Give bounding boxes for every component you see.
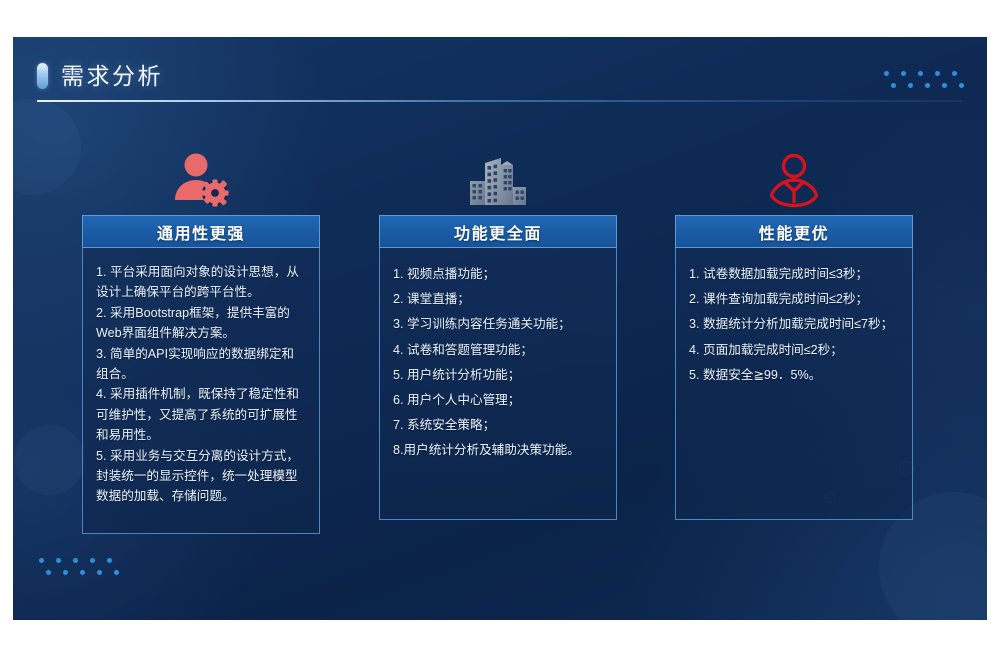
card-header-label: 通用性更强: [157, 220, 245, 244]
person-outline-icon: [675, 133, 913, 215]
card-header-performance: 性能更优: [675, 215, 913, 248]
dot-row: [884, 71, 964, 76]
dot: [925, 83, 930, 88]
dot-row: [891, 83, 964, 88]
column-features: 功能更全面 1. 视频点播功能； 2. 课堂直播； 3. 学习训练内容任务通关功…: [379, 133, 617, 520]
body-line: 5. 采用业务与交互分离的设计方式，封装统一的显示控件，统一处理模型数据的加载、…: [96, 446, 306, 507]
body-line: 7. 系统安全策略；: [393, 413, 603, 438]
body-line: 3. 学习训练内容任务通关功能；: [393, 312, 603, 337]
body-line: 4. 采用插件机制，既保持了稳定性和可维护性，又提高了系统的可扩展性和易用性。: [96, 384, 306, 445]
body-line: 5. 用户统计分析功能；: [393, 363, 603, 388]
dot: [942, 83, 947, 88]
body-line: 2. 课堂直播；: [393, 287, 603, 312]
buildings-icon: [379, 133, 617, 215]
slide-canvas: 需求分析: [13, 37, 987, 620]
columns-container: 通用性更强 1. 平台采用面向对象的设计思想，从设计上确保平台的跨平台性。 2.…: [13, 133, 987, 573]
body-line: 2. 课件查询加载完成时间≤2秒；: [689, 287, 899, 312]
dot: [952, 71, 957, 76]
body-line: 1. 视频点播功能；: [393, 262, 603, 287]
card-header-label: 性能更优: [759, 220, 829, 244]
body-line: 1. 平台采用面向对象的设计思想，从设计上确保平台的跨平台性。: [96, 262, 306, 303]
dot: [918, 71, 923, 76]
card-body-features: 1. 视频点播功能； 2. 课堂直播； 3. 学习训练内容任务通关功能； 4. …: [379, 248, 617, 520]
body-line: 3. 简单的API实现响应的数据绑定和组合。: [96, 344, 306, 385]
body-line: 5. 数据安全≧99．5%。: [689, 363, 899, 388]
dot-grid-top-right: [884, 71, 964, 88]
column-performance: 性能更优 1. 试卷数据加载完成时间≤3秒； 2. 课件查询加载完成时间≤2秒；…: [675, 133, 913, 520]
body-line: 8.用户统计分析及辅助决策功能。: [393, 438, 603, 463]
title-underline-divider: [37, 100, 962, 102]
title-row: 需求分析: [37, 63, 163, 89]
card-header-label: 功能更全面: [454, 220, 542, 244]
body-line: 2. 采用Bootstrap框架，提供丰富的Web界面组件解决方案。: [96, 303, 306, 344]
title-accent-pill-icon: [37, 63, 48, 89]
card-header-generality: 通用性更强: [82, 215, 320, 248]
dot: [884, 71, 889, 76]
dot: [908, 83, 913, 88]
body-line: 3. 数据统计分析加载完成时间≤7秒；: [689, 312, 899, 337]
column-generality: 通用性更强 1. 平台采用面向对象的设计思想，从设计上确保平台的跨平台性。 2.…: [82, 133, 320, 534]
slide-header: 需求分析: [13, 37, 987, 107]
body-line: 4. 页面加载完成时间≤2秒；: [689, 338, 899, 363]
card-header-features: 功能更全面: [379, 215, 617, 248]
body-line: 6. 用户个人中心管理；: [393, 388, 603, 413]
card-body-performance: 1. 试卷数据加载完成时间≤3秒； 2. 课件查询加载完成时间≤2秒； 3. 数…: [675, 248, 913, 520]
dot: [935, 71, 940, 76]
body-line: 4. 试卷和答题管理功能；: [393, 338, 603, 363]
user-gear-icon: [82, 133, 320, 215]
dot: [901, 71, 906, 76]
body-line: 1. 试卷数据加载完成时间≤3秒；: [689, 262, 899, 287]
dot: [891, 83, 896, 88]
dot: [959, 83, 964, 88]
card-body-generality: 1. 平台采用面向对象的设计思想，从设计上确保平台的跨平台性。 2. 采用Boo…: [82, 248, 320, 534]
page-title: 需求分析: [61, 65, 163, 88]
